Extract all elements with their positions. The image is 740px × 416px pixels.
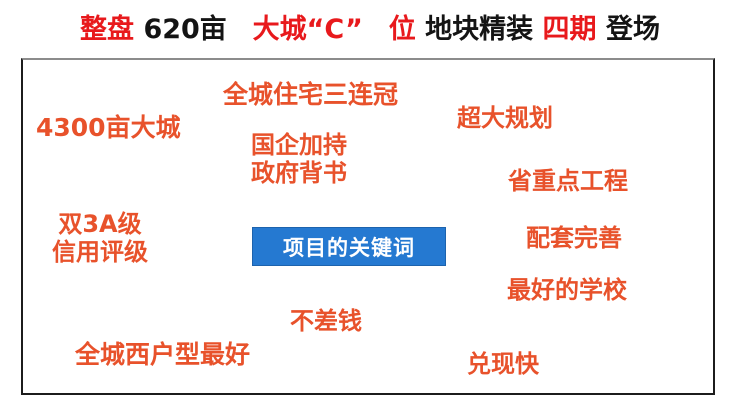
keyword-item-fast-delivery: 兑现快	[467, 350, 539, 378]
title-segment-5: 地块精装	[425, 14, 533, 45]
keyword-item-provincial-project: 省重点工程	[508, 167, 628, 195]
keyword-item-soe-backing: 国企加持 政府背书	[251, 131, 347, 188]
center-keyword-label: 项目的关键词	[283, 232, 415, 262]
keyword-item-scale: 4300亩大城	[36, 113, 181, 143]
keyword-cloud-panel: 4300亩大城 全城住宅三连冠 国企加持 政府背书 超大规划 省重点工程 双3A…	[21, 58, 715, 395]
title-segment-6: 四期	[543, 14, 597, 45]
keyword-item-credit-rating: 双3A级 信用评级	[52, 210, 148, 267]
title-segment-7: 登场	[606, 14, 660, 45]
title-segment-2: 620亩	[143, 14, 226, 45]
page-title: 整盘 620亩 大城“C” 位 地块精装 四期 登场	[0, 13, 740, 47]
title-segment-4: 位	[389, 14, 416, 45]
title-segment-1: 整盘	[80, 14, 134, 45]
keyword-item-triple-crown: 全城住宅三连冠	[223, 80, 398, 110]
center-keyword-box: 项目的关键词	[252, 227, 446, 266]
keyword-item-best-school: 最好的学校	[507, 276, 627, 304]
title-segment-3: 大城“C”	[253, 14, 363, 45]
keyword-item-mega-plan: 超大规划	[457, 104, 553, 132]
keyword-item-amenities: 配套完善	[526, 224, 622, 252]
keyword-item-best-layout: 全城西户型最好	[75, 340, 250, 370]
keyword-item-no-cash-issue: 不差钱	[290, 307, 362, 335]
